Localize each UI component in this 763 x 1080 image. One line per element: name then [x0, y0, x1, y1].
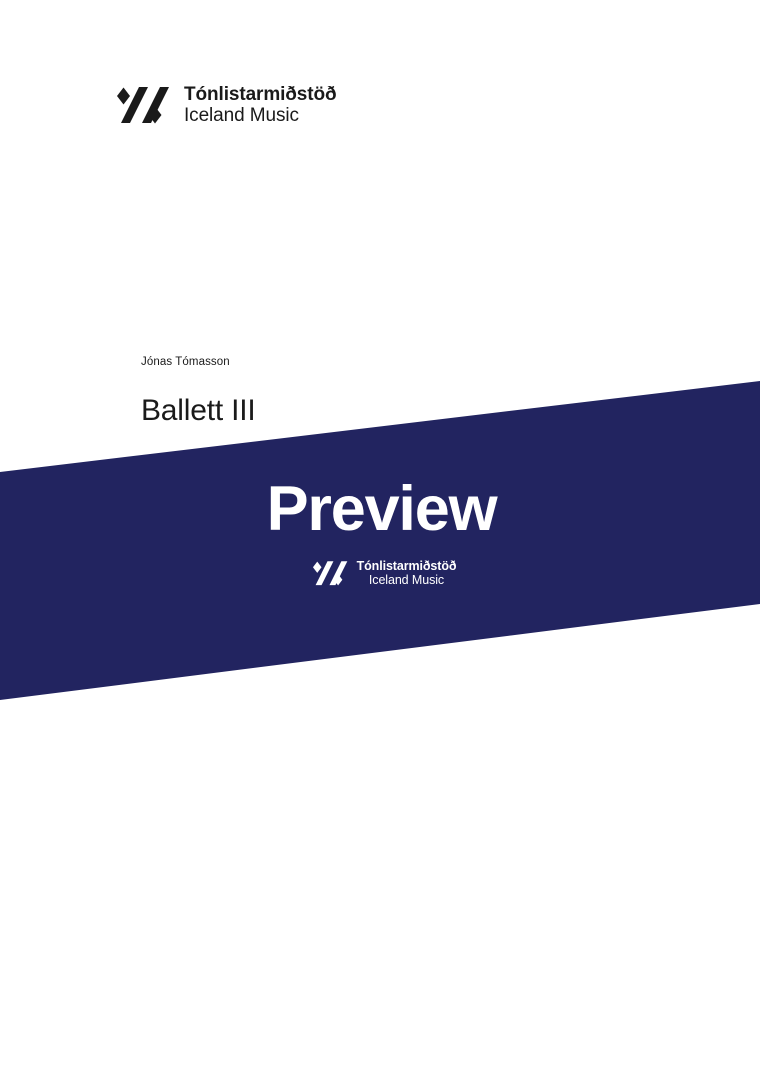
- iceland-music-logo-icon: [108, 87, 170, 124]
- header-brand-lockup: Tónlistarmiðstöð Iceland Music: [108, 84, 337, 127]
- brand-name-english: Iceland Music: [184, 105, 337, 126]
- score-cover-page: Tónlistarmiðstöð Iceland Music Jónas Tóm…: [0, 0, 763, 1080]
- header-brand-wordmark: Tónlistarmiðstöð Iceland Music: [184, 84, 337, 127]
- banner-brand-wordmark: Tónlistarmiðstöð Iceland Music: [357, 559, 457, 587]
- brand-name-icelandic: Tónlistarmiðstöð: [184, 84, 337, 105]
- work-title: Ballett III: [141, 394, 561, 428]
- brand-name-english: Iceland Music: [357, 573, 457, 587]
- iceland-music-logo-icon: [307, 561, 348, 586]
- brand-name-icelandic: Tónlistarmiðstöð: [357, 559, 457, 573]
- preview-label: Preview: [0, 478, 763, 541]
- preview-banner-shape: [0, 0, 763, 1080]
- preview-watermark-banner: Preview Tónlistarmiðstöð Iceland Music: [0, 0, 763, 1080]
- preview-banner-content: Preview Tónlistarmiðstöð Iceland Music: [0, 478, 763, 591]
- work-title-block: Jónas Tómasson Ballett III: [141, 356, 561, 428]
- banner-brand-lockup: Tónlistarmiðstöð Iceland Music: [307, 559, 457, 587]
- composer-name: Jónas Tómasson: [141, 356, 561, 368]
